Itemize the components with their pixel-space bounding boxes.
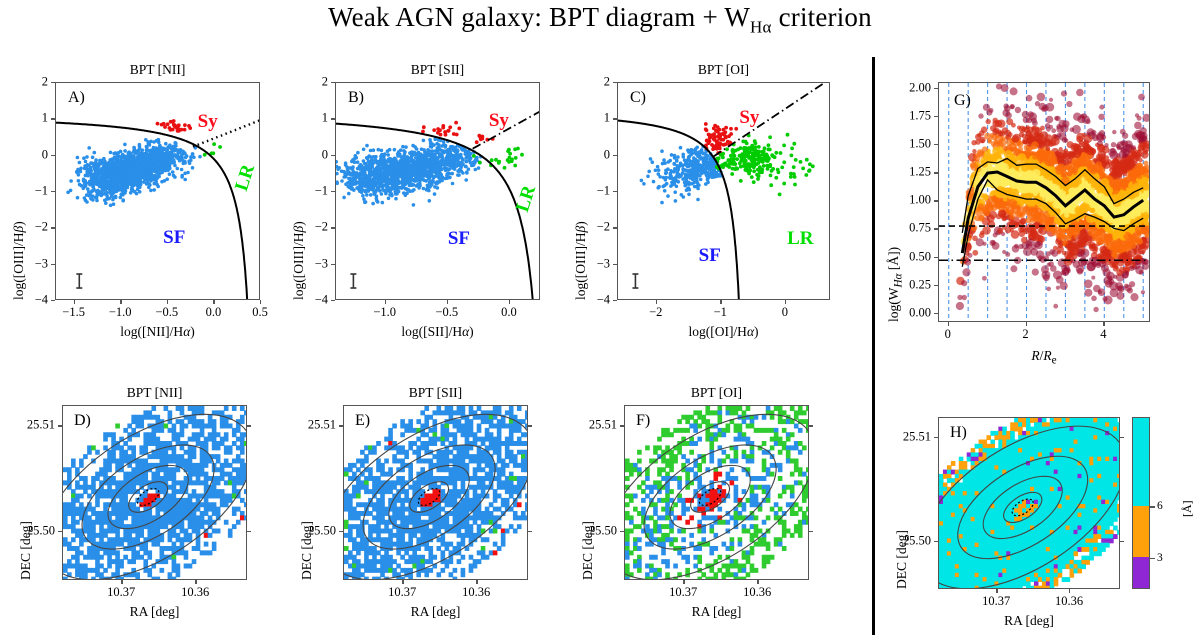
panel-b-yticklabel: 2 xyxy=(322,75,328,90)
panel-a-label-sf: SF xyxy=(163,227,185,249)
panel-d-spaxels xyxy=(63,406,247,580)
panel-c-yticklabel: 0 xyxy=(604,147,610,162)
panel-a-xtickmark xyxy=(213,300,214,304)
panel-d-yticklabel: 25.50 xyxy=(27,524,55,539)
panel-g-ytickmark xyxy=(934,313,938,314)
panel-g-xtickmark xyxy=(1026,322,1027,326)
panel-e-yticklabel: 25.50 xyxy=(308,524,336,539)
panel-g-ytickmark xyxy=(934,257,938,258)
panel-g-ytickmark xyxy=(934,172,938,173)
panel-a-title: BPT [NII] xyxy=(55,62,260,78)
panel-b-errorbar xyxy=(350,274,356,288)
panel-e-spaxels xyxy=(344,406,528,580)
panel-c-title: BPT [OI] xyxy=(617,62,830,78)
panel-a-xticklabel: −0.5 xyxy=(155,305,178,320)
panel-d-xlabel: RA [deg] xyxy=(62,604,247,620)
panel-c-ytickmark xyxy=(613,191,617,192)
panel-g-plot xyxy=(939,83,1150,322)
figure-title-post: criterion xyxy=(772,2,872,32)
panel-f-axes xyxy=(624,405,809,580)
panel-h-ytickmark-right xyxy=(1120,541,1124,542)
panel-g-yticklabel: 1.50 xyxy=(909,136,931,151)
panel-a-xticklabel: 0.0 xyxy=(206,305,222,320)
panel-a-yticklabel: −4 xyxy=(35,293,48,308)
panel-h-spaxels xyxy=(939,418,1120,589)
panel-g-yticklabel: 0.50 xyxy=(909,249,931,264)
panel-g-xticklabel: 0 xyxy=(945,327,951,342)
panel-g-ytickmark xyxy=(934,88,938,89)
panel-c-ytickmark xyxy=(613,264,617,265)
panel-c-ylabel: log([OIII]/Hβ) xyxy=(573,221,589,300)
panel-c-kewley-curve xyxy=(617,120,740,300)
panel-c-yticklabel: −4 xyxy=(597,293,610,308)
panel-g-axes xyxy=(938,82,1150,322)
panel-e-map xyxy=(344,406,528,580)
panel-c-ytickmark xyxy=(613,227,617,228)
panel-a-ytickmark xyxy=(51,227,55,228)
panel-a-xticklabel: −1.0 xyxy=(109,305,132,320)
colorbar-ticklabel: 6 xyxy=(1157,500,1163,512)
panel-e-axes xyxy=(343,405,528,580)
panel-f-ytickmark-right xyxy=(809,425,813,426)
panel-a-yticklabel: −1 xyxy=(35,184,48,199)
panel-e-title: BPT [SII] xyxy=(343,385,528,401)
panel-f-xlabel: RA [deg] xyxy=(624,604,809,620)
panel-g-xtickmark xyxy=(948,322,949,326)
panel-b-xlabel: log([SII]/Hα) xyxy=(335,324,540,340)
panel-b-points xyxy=(335,121,524,207)
panel-e-yticklabel: 25.51 xyxy=(308,418,336,433)
panel-d-letter: D) xyxy=(74,412,91,430)
panel-b-ytickmark xyxy=(331,300,335,301)
panel-h-axes xyxy=(938,417,1120,589)
panel-e-ytickmark xyxy=(339,531,343,532)
panel-f-xticklabel: 10.36 xyxy=(743,585,771,600)
panel-a-axes: SFSyLR xyxy=(55,82,260,300)
panel-a-plot xyxy=(56,83,260,300)
panel-c-label-lr: LR xyxy=(787,228,813,250)
panel-g-xtickmark xyxy=(1103,322,1104,326)
panel-c-ytickmark xyxy=(613,118,617,119)
panel-a-xtickmark xyxy=(260,300,261,304)
panel-f-xticklabel: 10.37 xyxy=(669,585,697,600)
panel-b-ytickmark xyxy=(331,82,335,83)
panel-a-letter: A) xyxy=(68,89,85,107)
panel-f-ytickmark-right xyxy=(809,531,813,532)
panel-d-axes xyxy=(62,405,247,580)
panel-a-xtickmark xyxy=(74,300,75,304)
panel-b-letter: B) xyxy=(348,89,364,107)
panel-g-yticklabel: 0.75 xyxy=(909,221,931,236)
panel-e-ytickmark-right xyxy=(528,425,532,426)
panel-f-ytickmark xyxy=(620,425,624,426)
panel-f-yticklabel: 25.50 xyxy=(589,524,617,539)
panel-a-ytickmark xyxy=(51,300,55,301)
panel-g-ytickmark xyxy=(934,200,938,201)
panel-g-yticklabel: 0.00 xyxy=(909,305,931,320)
colorbar-segment-0 xyxy=(1133,418,1149,506)
panel-b-label-sf: SF xyxy=(448,228,470,250)
panel-g-xticklabel: 4 xyxy=(1100,327,1106,342)
panel-f-title: BPT [OI] xyxy=(624,385,809,401)
panel-b-xticklabel: 0.0 xyxy=(501,305,517,320)
panel-f-spaxels xyxy=(625,406,809,580)
panel-b-yticklabel: −3 xyxy=(315,256,328,271)
figure-title-sub: Hα xyxy=(750,17,772,36)
panel-c-label-sy: Sy xyxy=(739,107,759,129)
panel-b-xticklabel: −1.0 xyxy=(373,305,396,320)
panel-c-letter: C) xyxy=(630,89,646,107)
panel-b-ytickmark xyxy=(331,191,335,192)
panel-e-ytickmark xyxy=(339,425,343,426)
panel-h-xlabel: RA [deg] xyxy=(938,613,1120,629)
panel-a-yticklabel: −3 xyxy=(35,256,48,271)
panel-a-yticklabel: 1 xyxy=(42,111,48,126)
panel-f-yticklabel: 25.51 xyxy=(589,418,617,433)
panel-c-xlabel: log([OI]/Hα) xyxy=(617,324,830,340)
panel-f-ytickmark xyxy=(620,531,624,532)
panel-h-xticklabel: 10.36 xyxy=(1055,594,1083,609)
panel-g-yticklabel: 1.00 xyxy=(909,193,931,208)
panel-d-xtickmark xyxy=(121,580,122,584)
panel-d-yticklabel: 25.51 xyxy=(27,418,55,433)
panel-h-yticklabel: 25.51 xyxy=(903,429,931,444)
panel-a-yticklabel: −2 xyxy=(35,220,48,235)
panel-c-yticklabel: −3 xyxy=(597,256,610,271)
panel-b-plot xyxy=(336,83,540,300)
panel-e-letter: E) xyxy=(355,412,370,430)
panel-e-xtickmark xyxy=(476,580,477,584)
panel-b-title: BPT [SII] xyxy=(335,62,540,78)
panel-d-title: BPT [NII] xyxy=(62,385,247,401)
panel-c-ytickmark xyxy=(613,82,617,83)
colorbar-label: [Å] xyxy=(1180,500,1195,517)
colorbar-segment-1 xyxy=(1133,506,1149,557)
panel-b-ytickmark xyxy=(331,155,335,156)
panel-g-xticklabel: 2 xyxy=(1022,327,1028,342)
panel-a-ytickmark xyxy=(51,264,55,265)
panel-h-xtickmark xyxy=(1069,589,1070,593)
panel-h-ytickmark-right xyxy=(1120,437,1124,438)
panel-g-ytickmark xyxy=(934,285,938,286)
panel-h-xtickmark xyxy=(996,589,997,593)
panel-b-yticklabel: −4 xyxy=(315,293,328,308)
panel-e-xticklabel: 10.37 xyxy=(388,585,416,600)
colorbar xyxy=(1132,417,1150,589)
panel-g-xlabel: R/Re xyxy=(938,348,1150,367)
panel-g-yticklabel: 0.25 xyxy=(909,277,931,292)
panel-a-xtickmark xyxy=(167,300,168,304)
panel-b-yticklabel: 1 xyxy=(322,111,328,126)
panel-c-yticklabel: −2 xyxy=(597,220,610,235)
panel-c-label-sf: SF xyxy=(699,245,721,267)
panel-a-xtickmark xyxy=(120,300,121,304)
panel-e-xlabel: RA [deg] xyxy=(343,604,528,620)
panel-g-points xyxy=(956,83,1150,312)
panel-b-ytickmark xyxy=(331,227,335,228)
panel-h-ytickmark xyxy=(934,541,938,542)
panel-b-yticklabel: 0 xyxy=(322,147,328,162)
panel-d-ytickmark xyxy=(58,425,62,426)
panel-d-ytickmark-right xyxy=(247,531,251,532)
panel-h-ytickmark xyxy=(934,437,938,438)
panel-d-xtickmark xyxy=(195,580,196,584)
colorbar-tickmark xyxy=(1150,506,1155,507)
panel-a-xticklabel: 0.5 xyxy=(252,305,268,320)
panel-c-xtickmark xyxy=(656,300,657,304)
figure-canvas: Weak AGN galaxy: BPT diagram + WHα crite… xyxy=(0,0,1200,641)
panel-f-xtickmark xyxy=(683,580,684,584)
panel-e-xtickmark xyxy=(402,580,403,584)
panel-c-plot xyxy=(618,83,830,300)
panel-a-ytickmark xyxy=(51,155,55,156)
colorbar-tickmark xyxy=(1150,558,1155,559)
panel-d-ytickmark-right xyxy=(247,425,251,426)
panel-g-ytickmark xyxy=(934,144,938,145)
panel-a-label-sy: Sy xyxy=(198,111,218,133)
panel-g-ylabel: log(WHα [Å]) xyxy=(886,247,905,322)
panel-c-xticklabel: −1 xyxy=(714,305,727,320)
panel-f-map xyxy=(625,406,809,580)
panel-c-xtickmark xyxy=(720,300,721,304)
panel-c-ytickmark xyxy=(613,300,617,301)
panel-a-yticklabel: 2 xyxy=(42,75,48,90)
panel-b-yticklabel: −1 xyxy=(315,184,328,199)
colorbar-ticklabel: 3 xyxy=(1157,552,1163,564)
figure-title: Weak AGN galaxy: BPT diagram + WHα crite… xyxy=(0,2,1200,37)
panel-c-yticklabel: 2 xyxy=(604,75,610,90)
panel-b-label-sy: Sy xyxy=(489,110,509,132)
panel-h-yticklabel: 25.50 xyxy=(903,533,931,548)
panel-c-xtickmark xyxy=(785,300,786,304)
panel-b-xtickmark xyxy=(385,300,386,304)
panel-d-xticklabel: 10.36 xyxy=(181,585,209,600)
panel-c-errorbar xyxy=(632,274,638,288)
panel-b-xtickmark xyxy=(447,300,448,304)
panel-h-xticklabel: 10.37 xyxy=(982,594,1010,609)
panel-a-xlabel: log([NII]/Hα) xyxy=(55,324,260,340)
panel-d-ytickmark xyxy=(58,531,62,532)
panel-b-ylabel: log([OIII]/Hβ) xyxy=(291,221,307,300)
panel-a-ytickmark xyxy=(51,191,55,192)
panel-g-letter: G) xyxy=(954,92,971,110)
panel-a-errorbar xyxy=(76,274,82,288)
panel-c-axes: SFSyLR xyxy=(617,82,830,300)
panel-c-ytickmark xyxy=(613,155,617,156)
panel-g-yticklabel: 1.25 xyxy=(909,165,931,180)
panel-divider xyxy=(872,57,875,635)
panel-a-ytickmark xyxy=(51,118,55,119)
panel-d-xticklabel: 10.37 xyxy=(107,585,135,600)
panel-e-ytickmark-right xyxy=(528,531,532,532)
panel-h-map xyxy=(939,418,1120,589)
panel-g-yticklabel: 2.00 xyxy=(909,80,931,95)
panel-g-ytickmark xyxy=(934,228,938,229)
colorbar-segment-2 xyxy=(1133,557,1149,588)
panel-e-xticklabel: 10.36 xyxy=(462,585,490,600)
panel-a-xticklabel: −1.5 xyxy=(62,305,85,320)
panel-b-axes: SFSyLR xyxy=(335,82,540,300)
panel-b-ytickmark xyxy=(331,118,335,119)
panel-g-yticklabel: 1.75 xyxy=(909,108,931,123)
panel-f-xtickmark xyxy=(757,580,758,584)
panel-h-letter: H) xyxy=(950,424,967,442)
panel-c-xticklabel: 0 xyxy=(782,305,788,320)
panel-b-xticklabel: −0.5 xyxy=(435,305,458,320)
panel-d-map xyxy=(63,406,247,580)
panel-a-ytickmark xyxy=(51,82,55,83)
panel-b-ytickmark xyxy=(331,264,335,265)
panel-c-xticklabel: −2 xyxy=(649,305,662,320)
panel-g-ytickmark xyxy=(934,116,938,117)
panel-b-yticklabel: −2 xyxy=(315,220,328,235)
panel-b-xtickmark xyxy=(509,300,510,304)
panel-c-yticklabel: −1 xyxy=(597,184,610,199)
panel-c-yticklabel: 1 xyxy=(604,111,610,126)
panel-a-yticklabel: 0 xyxy=(42,147,48,162)
figure-title-pre: Weak AGN galaxy: BPT diagram + W xyxy=(328,2,750,32)
panel-c-sy-lr-divider xyxy=(714,82,831,157)
panel-a-ylabel: log([OIII]/Hβ) xyxy=(11,221,27,300)
panel-f-letter: F) xyxy=(636,412,650,430)
